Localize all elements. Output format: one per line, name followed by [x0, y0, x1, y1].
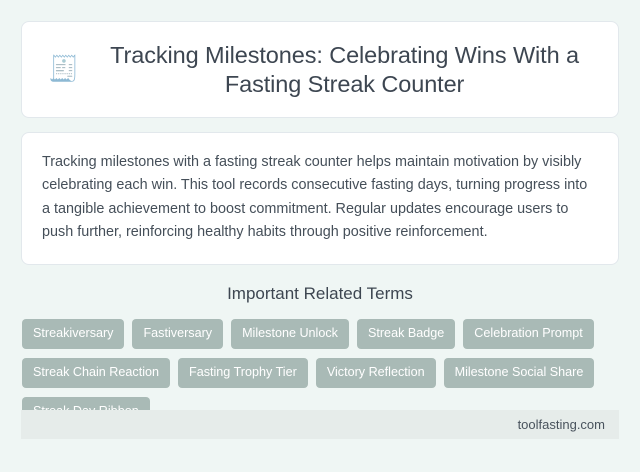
description-paragraph: Tracking milestones with a fasting strea…	[42, 151, 598, 244]
related-term-chip[interactable]: Streak Chain Reaction	[22, 358, 170, 388]
header-card: 🧾 Tracking Milestones: Celebrating Wins …	[21, 21, 619, 118]
related-term-chip[interactable]: Fasting Trophy Tier	[178, 358, 308, 388]
page-root: 🧾 Tracking Milestones: Celebrating Wins …	[0, 0, 640, 472]
related-terms-section: Important Related Terms StreakiversaryFa…	[21, 284, 619, 426]
related-term-chip[interactable]: Streakiversary	[22, 319, 124, 349]
related-term-chip[interactable]: Celebration Prompt	[463, 319, 594, 349]
related-term-chip[interactable]: Milestone Unlock	[231, 319, 349, 349]
page-title: Tracking Milestones: Celebrating Wins Wi…	[97, 41, 592, 98]
header-inner: 🧾 Tracking Milestones: Celebrating Wins …	[48, 25, 592, 114]
related-term-chip[interactable]: Fastiversary	[132, 319, 223, 349]
related-terms-heading: Important Related Terms	[21, 284, 619, 304]
related-term-chip[interactable]: Streak Badge	[357, 319, 455, 349]
receipt-document-icon: 🧾	[48, 57, 79, 82]
related-term-chip[interactable]: Milestone Social Share	[444, 358, 595, 388]
footer-bar: toolfasting.com	[21, 410, 619, 439]
description-card: Tracking milestones with a fasting strea…	[21, 132, 619, 265]
related-term-chip[interactable]: Victory Reflection	[316, 358, 436, 388]
footer-site-name: toolfasting.com	[518, 417, 605, 432]
